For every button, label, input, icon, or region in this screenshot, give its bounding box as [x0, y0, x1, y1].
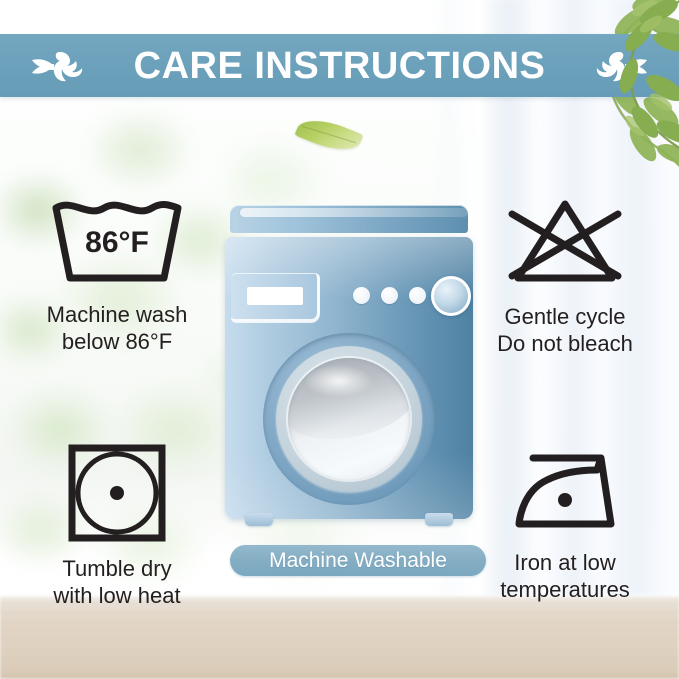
instruction-caption: Gentle cycle Do not bleach — [456, 303, 674, 357]
background-wood-grain — [0, 597, 679, 679]
machine-door-glass — [288, 358, 410, 480]
machine-foot-left — [245, 513, 273, 526]
control-button — [381, 287, 398, 304]
control-button — [353, 287, 370, 304]
machine-body — [225, 237, 473, 519]
machine-door-outer-ring — [263, 333, 435, 505]
machine-top-highlight — [240, 208, 468, 217]
instruction-gentle-cycle-no-bleach: Gentle cycle Do not bleach — [456, 196, 674, 357]
instruction-caption: Iron at low temperatures — [456, 549, 674, 603]
machine-door-inner-ring — [276, 346, 422, 492]
washing-machine-illustration — [225, 205, 473, 535]
machine-foot-right — [425, 513, 453, 526]
instruction-caption: Tumble dry with low heat — [8, 555, 226, 609]
machine-door-glass-highlight — [305, 365, 372, 397]
care-instructions-infographic: CARE INSTRUCTIONS — [0, 0, 679, 679]
leafy-branch-front-icon — [553, 0, 679, 180]
fleur-de-lis-left-icon — [30, 44, 92, 88]
triangle-crossed-out-icon — [490, 196, 640, 288]
instruction-machine-wash: 86°F Machine wash below 86°F — [8, 196, 226, 355]
instruction-tumble-dry: Tumble dry with low heat — [8, 440, 226, 609]
instruction-caption: Machine wash below 86°F — [8, 301, 226, 355]
wash-temperature-value: 86°F — [85, 226, 149, 259]
iron-one-dot-icon — [495, 440, 635, 538]
instruction-iron-low: Iron at low temperatures — [456, 440, 674, 603]
page-title: CARE INSTRUCTIONS — [134, 47, 546, 85]
machine-control-buttons — [353, 287, 426, 304]
detergent-drawer-slot — [247, 287, 303, 305]
tumble-dry-low-icon — [62, 440, 172, 544]
control-button — [409, 287, 426, 304]
wash-tub-icon: 86°F — [42, 196, 192, 288]
machine-washable-badge: Machine Washable — [230, 545, 486, 576]
control-knob — [431, 276, 471, 316]
detergent-drawer — [231, 273, 320, 322]
machine-top-panel — [230, 205, 468, 233]
machine-washable-badge-label: Machine Washable — [269, 550, 447, 571]
